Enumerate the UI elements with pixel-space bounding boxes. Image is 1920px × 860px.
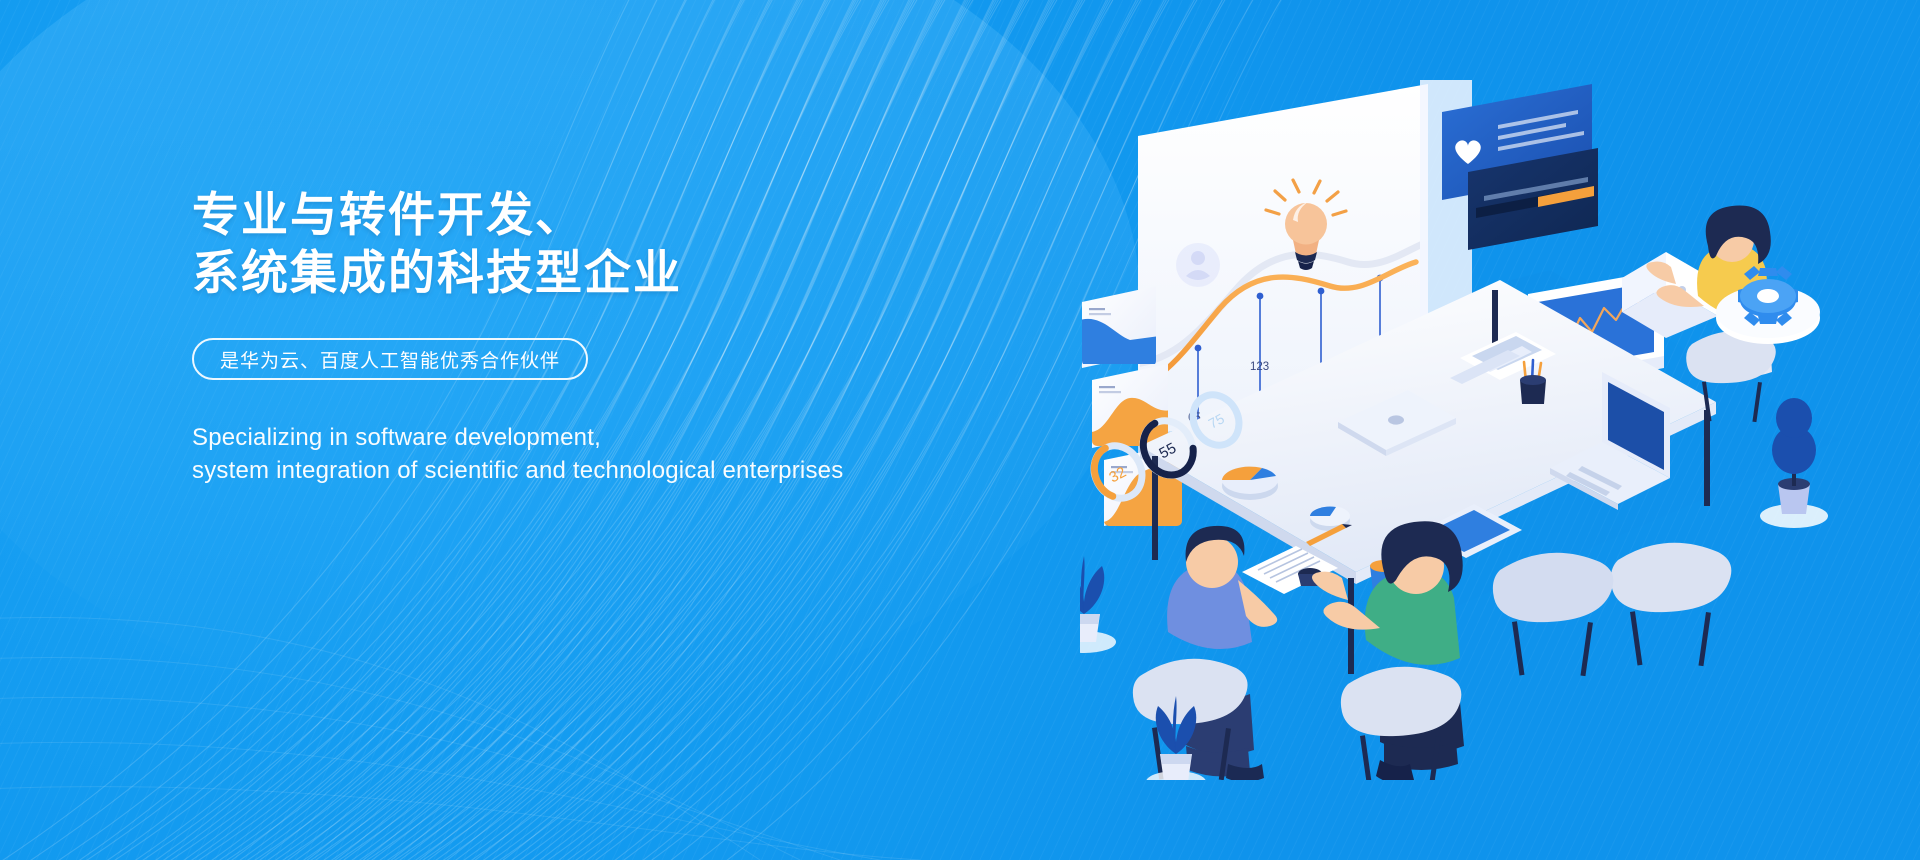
chair-empty-2 <box>1493 553 1613 676</box>
floor-plant-1 <box>1080 556 1116 653</box>
headline-line-1: 专业与转件开发、 <box>192 188 584 241</box>
partner-badge: 是华为云、百度人工智能优秀合作伙伴 <box>192 338 588 380</box>
subtitle-line-1: Specializing in software development, <box>192 421 952 454</box>
avatar <box>1176 243 1220 287</box>
partner-badge-label: 是华为云、百度人工智能优秀合作伙伴 <box>220 346 560 373</box>
chair-empty-1 <box>1611 543 1731 666</box>
hero-banner: 专业与转件开发、 系统集成的科技型企业 是华为云、百度人工智能优秀合作伙伴 Sp… <box>0 0 1920 860</box>
mini-card-1 <box>1080 286 1160 368</box>
hero-subtitle: Specializing in software development, sy… <box>192 421 952 487</box>
person-left <box>1133 526 1277 780</box>
chart-label-1: 123 <box>1250 361 1269 373</box>
subtitle-line-2: system integration of scientific and tec… <box>192 454 952 487</box>
page-title: 专业与转件开发、 系统集成的科技型企业 <box>192 186 952 302</box>
hero-illustration: 65 123 97 81 <box>1080 80 1900 780</box>
headline-line-2: 系统集成的科技型企业 <box>192 244 952 302</box>
isometric-office-scene: 65 123 97 81 <box>1080 80 1900 780</box>
gear-icon <box>1738 266 1798 326</box>
hero-copy: 专业与转件开发、 系统集成的科技型企业 是华为云、百度人工智能优秀合作伙伴 Sp… <box>192 186 952 487</box>
